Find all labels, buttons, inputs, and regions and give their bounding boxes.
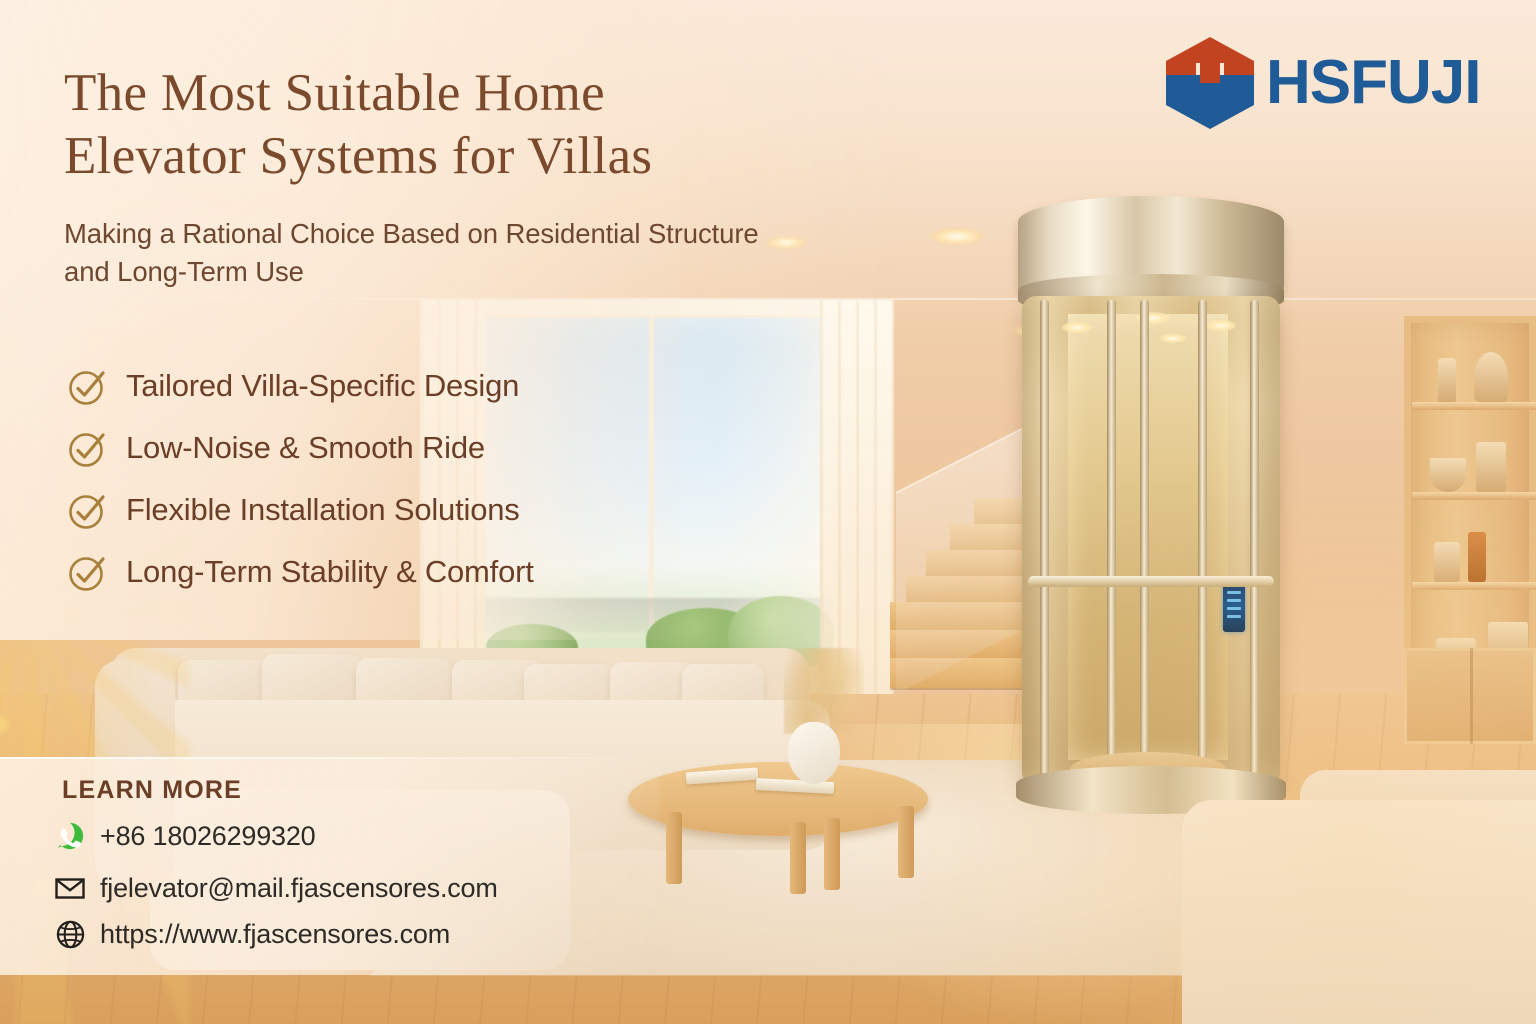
list-item: Flexible Installation Solutions [66, 482, 534, 538]
feature-label: Long-Term Stability & Comfort [126, 554, 534, 590]
list-item: Low-Noise & Smooth Ride [66, 420, 534, 476]
subhead-line-2: and Long-Term Use [64, 253, 884, 291]
banner-content: The Most Suitable Home Elevator Systems … [0, 0, 1536, 1024]
page-subtitle: Making a Rational Choice Based on Reside… [64, 215, 884, 291]
contact-row-email[interactable]: fjelevator@mail.fjascensores.com [54, 872, 498, 904]
learn-more-heading: LEARN MORE [62, 776, 242, 805]
brand-logo: HSFUJI [1158, 28, 1514, 138]
feature-label: Tailored Villa-Specific Design [126, 368, 519, 404]
phone-number: +86 18026299320 [100, 821, 315, 852]
headline-line-2: Elevator Systems for Villas [64, 125, 864, 188]
brand-wordmark: HSFUJI [1266, 52, 1480, 114]
check-circle-icon [66, 488, 110, 532]
hexagon-arrows-logo-icon [1158, 31, 1262, 135]
contact-row-website[interactable]: https://www.fjascensores.com [54, 918, 450, 950]
feature-label: Flexible Installation Solutions [126, 492, 520, 528]
contact-row-phone[interactable]: +86 18026299320 [54, 820, 315, 852]
feature-list: Tailored Villa-Specific Design Low-Noise… [66, 358, 534, 606]
headline-line-1: The Most Suitable Home [64, 62, 864, 125]
email-address: fjelevator@mail.fjascensores.com [100, 873, 498, 904]
check-circle-icon [66, 364, 110, 408]
whatsapp-icon [54, 820, 86, 852]
page-title: The Most Suitable Home Elevator Systems … [64, 62, 864, 188]
envelope-icon [54, 872, 86, 904]
check-circle-icon [66, 426, 110, 470]
list-item: Long-Term Stability & Comfort [66, 544, 534, 600]
list-item: Tailored Villa-Specific Design [66, 358, 534, 414]
check-circle-icon [66, 550, 110, 594]
website-url: https://www.fjascensores.com [100, 919, 450, 950]
subhead-line-1: Making a Rational Choice Based on Reside… [64, 215, 884, 253]
marketing-banner: The Most Suitable Home Elevator Systems … [0, 0, 1536, 1024]
globe-icon [54, 918, 86, 950]
feature-label: Low-Noise & Smooth Ride [126, 430, 485, 466]
